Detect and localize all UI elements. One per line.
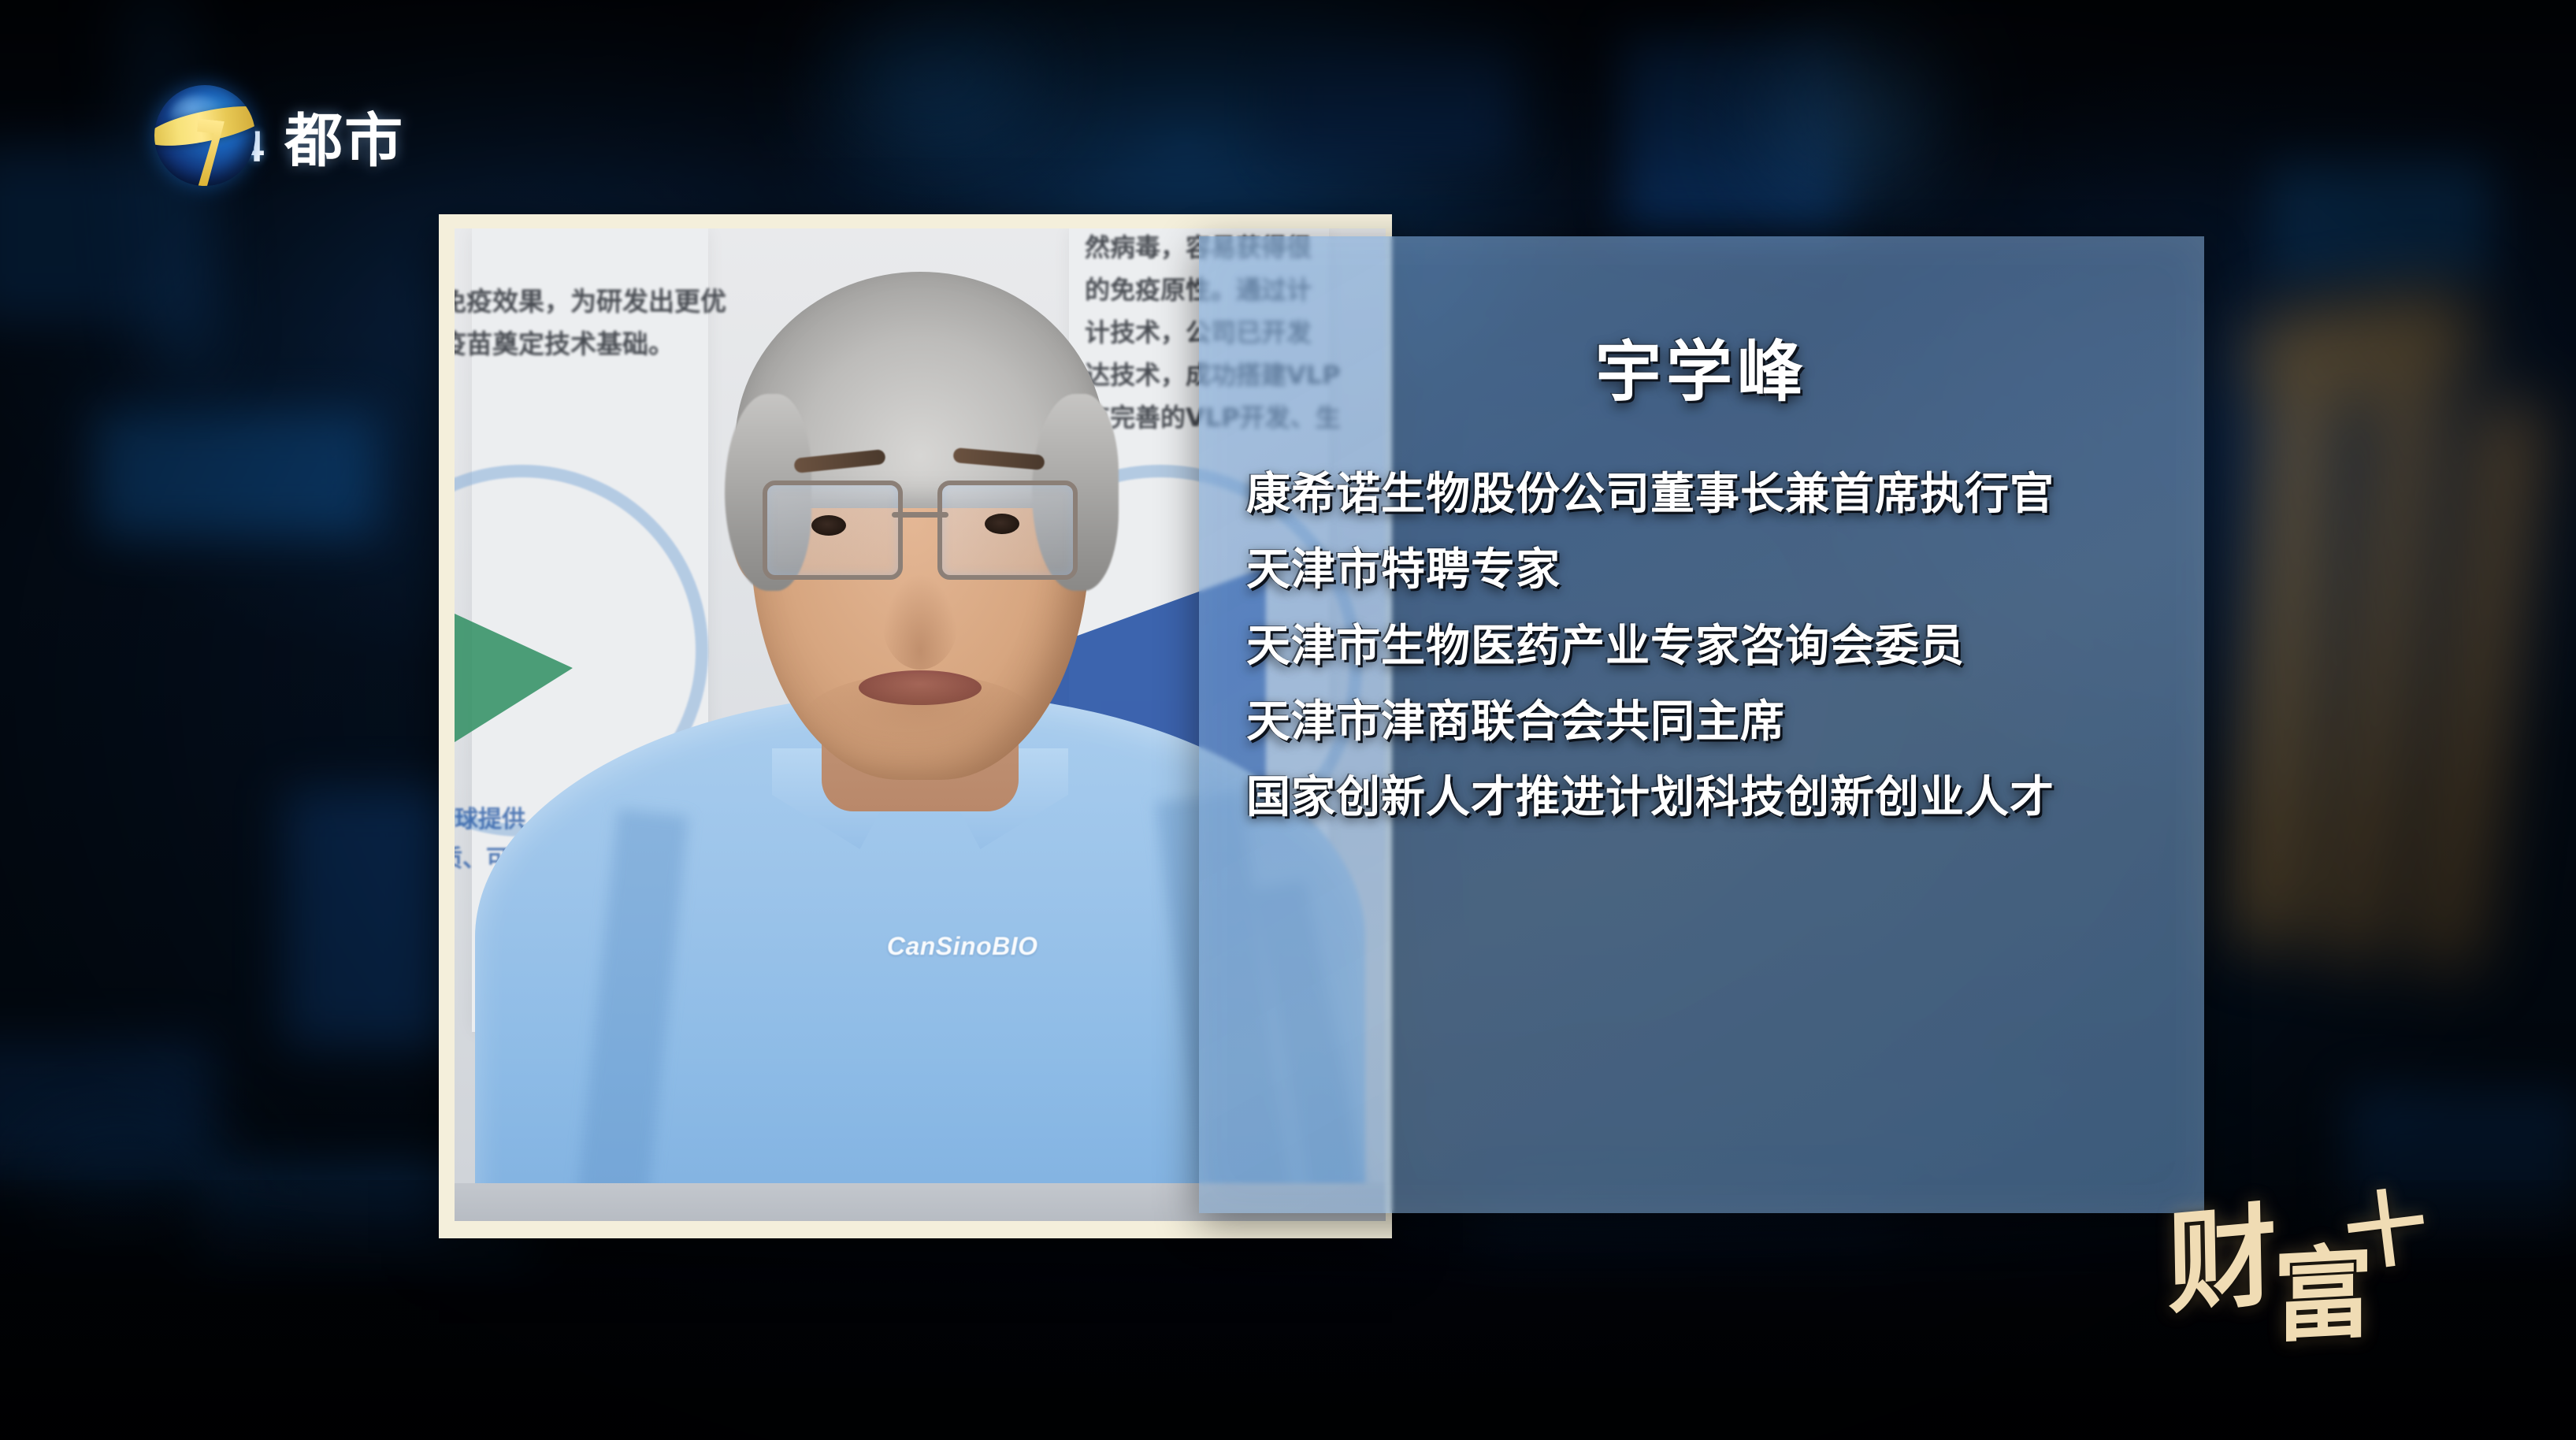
guest-title-line: 天津市特聘专家 <box>1246 533 2173 608</box>
glasses-bridge <box>892 512 948 518</box>
glasses-lens-left <box>763 481 903 580</box>
guest-title-line: 天津市津商联合会共同主席 <box>1246 685 2173 760</box>
channel-logo: 4 都市 <box>154 85 404 186</box>
shirt-brand-logo: CanSinoBIO <box>887 932 1038 961</box>
subject-nose <box>882 575 958 670</box>
watermark-char-cai: 财 <box>2166 1201 2278 1321</box>
guest-titles-list: 康希诺生物股份公司董事长兼首席执行官 天津市特聘专家 天津市生物医药产业专家咨询… <box>1246 457 2173 837</box>
glasses-lens-right <box>937 481 1078 580</box>
guest-title-line: 国家创新人才推进计划科技创新创业人才 <box>1246 760 2173 836</box>
subject-chin <box>802 674 1038 768</box>
guest-info-panel: 宇学峰 康希诺生物股份公司董事长兼首席执行官 天津市特聘专家 天津市生物医药产业… <box>1199 236 2204 1213</box>
channel-name: 都市 <box>284 94 404 178</box>
guest-title-line: 天津市生物医药产业专家咨询会委员 <box>1246 609 2173 685</box>
program-watermark: 财 十 富 <box>2162 1182 2501 1418</box>
subject-glasses <box>763 481 1078 575</box>
watermark-char-fu: 富 <box>2273 1242 2374 1349</box>
tianjin-tv-orb-icon <box>154 85 255 186</box>
broadcast-frame: 4 都市 免疫效果，为研发出更优 疫苗奠定技术基础。 然病毒，容易获得很 的免疫… <box>0 0 2576 1440</box>
guest-title-line: 康希诺生物股份公司董事长兼首席执行官 <box>1246 457 2173 533</box>
guest-name: 宇学峰 <box>1199 319 2204 414</box>
